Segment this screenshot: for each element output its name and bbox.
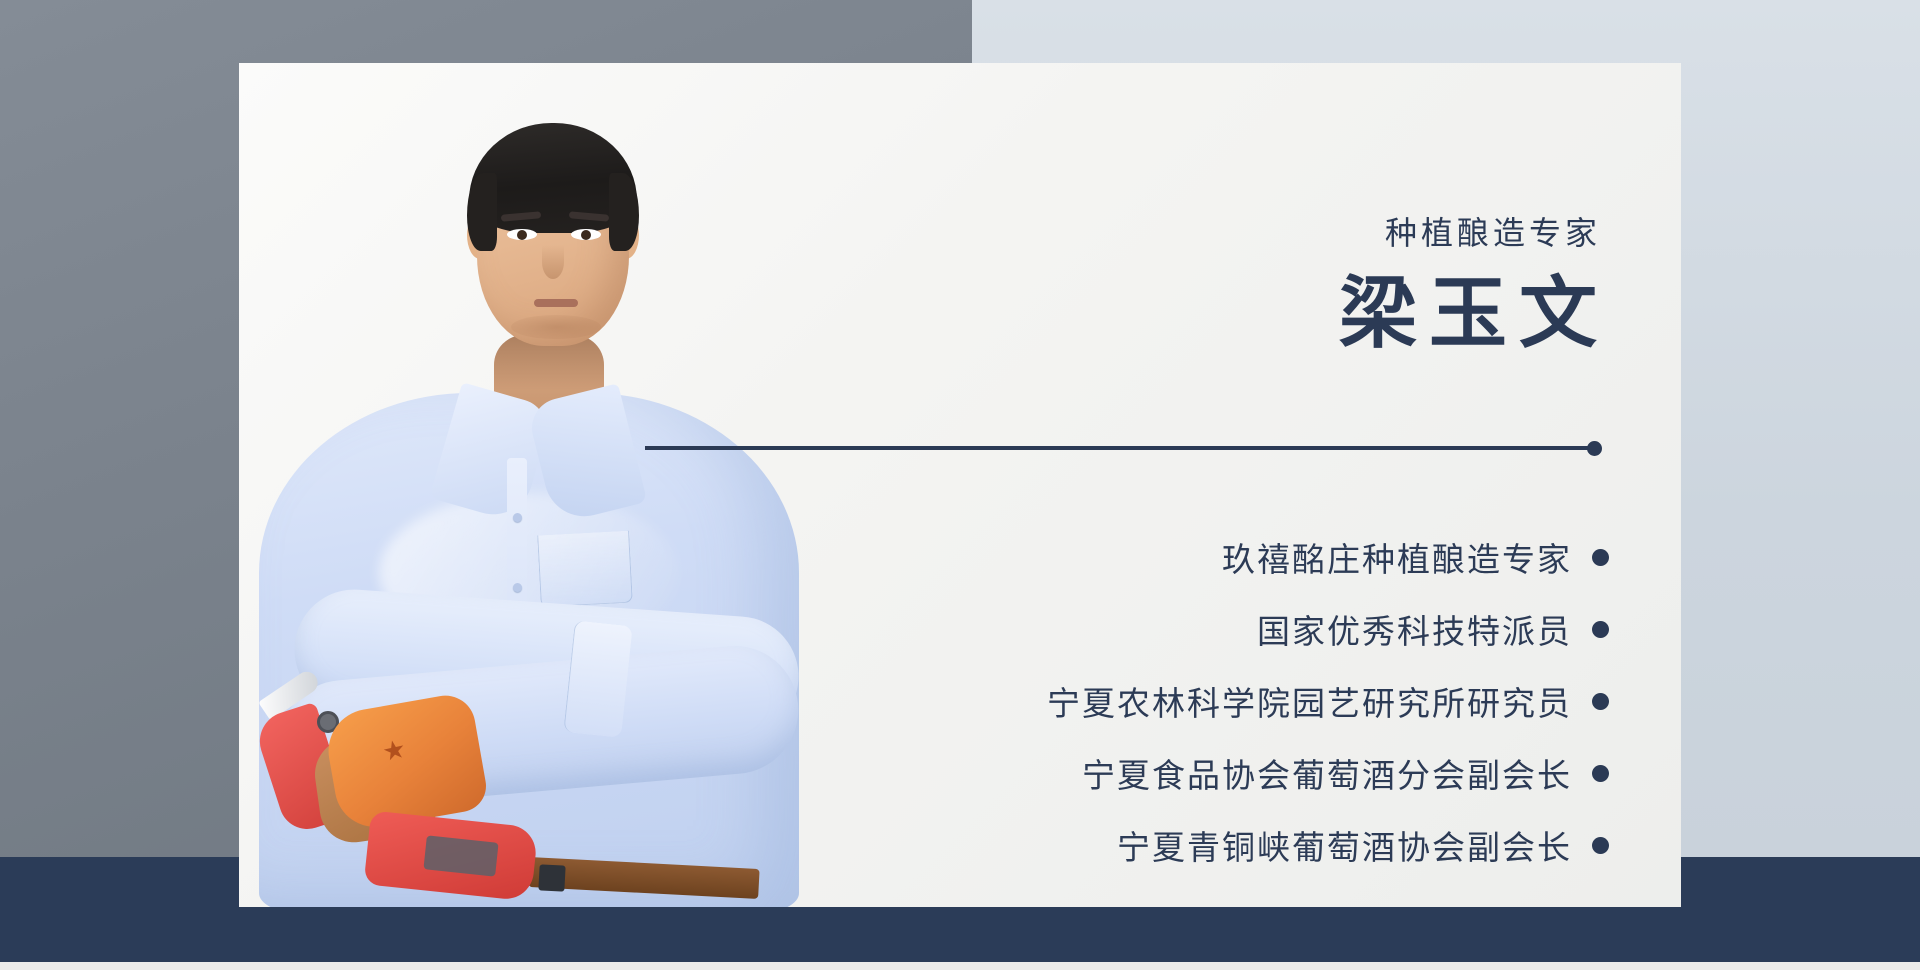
glove-star-icon: ★ (376, 732, 412, 768)
hair-side-left (467, 173, 497, 251)
credential-label: 宁夏食品协会葡萄酒分会副会长 (1082, 749, 1572, 797)
bullet-icon (1592, 837, 1609, 854)
divider-end-dot-icon (1587, 441, 1602, 456)
list-item: 宁夏农林科学院园艺研究所研究员 (1047, 677, 1609, 725)
mouth (534, 299, 578, 307)
shirt-cuff (563, 620, 632, 737)
shirt-button (513, 583, 522, 592)
shirt-button (513, 513, 522, 522)
profile-name: 梁玉文 (1339, 251, 1609, 363)
bullet-icon (1592, 549, 1609, 566)
credentials-list: 玖禧酩庄种植酿造专家 国家优秀科技特派员 宁夏农林科学院园艺研究所研究员 宁夏食… (789, 533, 1609, 869)
portrait-figure: ★ (239, 63, 839, 907)
divider-line (645, 446, 1593, 450)
credential-label: 宁夏青铜峡葡萄酒协会副会长 (1117, 821, 1572, 869)
list-item: 国家优秀科技特派员 (1257, 605, 1609, 653)
nose (542, 245, 564, 279)
credential-label: 国家优秀科技特派员 (1257, 605, 1572, 653)
bullet-icon (1592, 693, 1609, 710)
profile-card: ★ 种植酿造专家 梁玉文 玖禧酩庄种植酿造专家 国家优秀科技特派员 宁夏农林科学… (239, 63, 1681, 907)
belt-buckle (538, 864, 565, 891)
divider (645, 441, 1611, 455)
credential-label: 玖禧酩庄种植酿造专家 (1222, 533, 1572, 581)
bullet-icon (1592, 621, 1609, 638)
chin-shadow (511, 315, 601, 339)
profile-subtitle: 种植酿造专家 (1385, 208, 1601, 254)
credential-label: 宁夏农林科学院园艺研究所研究员 (1047, 677, 1572, 725)
bullet-icon (1592, 765, 1609, 782)
poster-stage: ★ 种植酿造专家 梁玉文 玖禧酩庄种植酿造专家 国家优秀科技特派员 宁夏农林科学… (0, 0, 1920, 970)
eye-right (571, 229, 601, 240)
background-bottom-strip (0, 962, 1920, 970)
shirt-pocket (537, 531, 633, 608)
list-item: 宁夏食品协会葡萄酒分会副会长 (1082, 749, 1609, 797)
eye-left (507, 229, 537, 240)
list-item: 宁夏青铜峡葡萄酒协会副会长 (1117, 821, 1609, 869)
list-item: 玖禧酩庄种植酿造专家 (1222, 533, 1609, 581)
